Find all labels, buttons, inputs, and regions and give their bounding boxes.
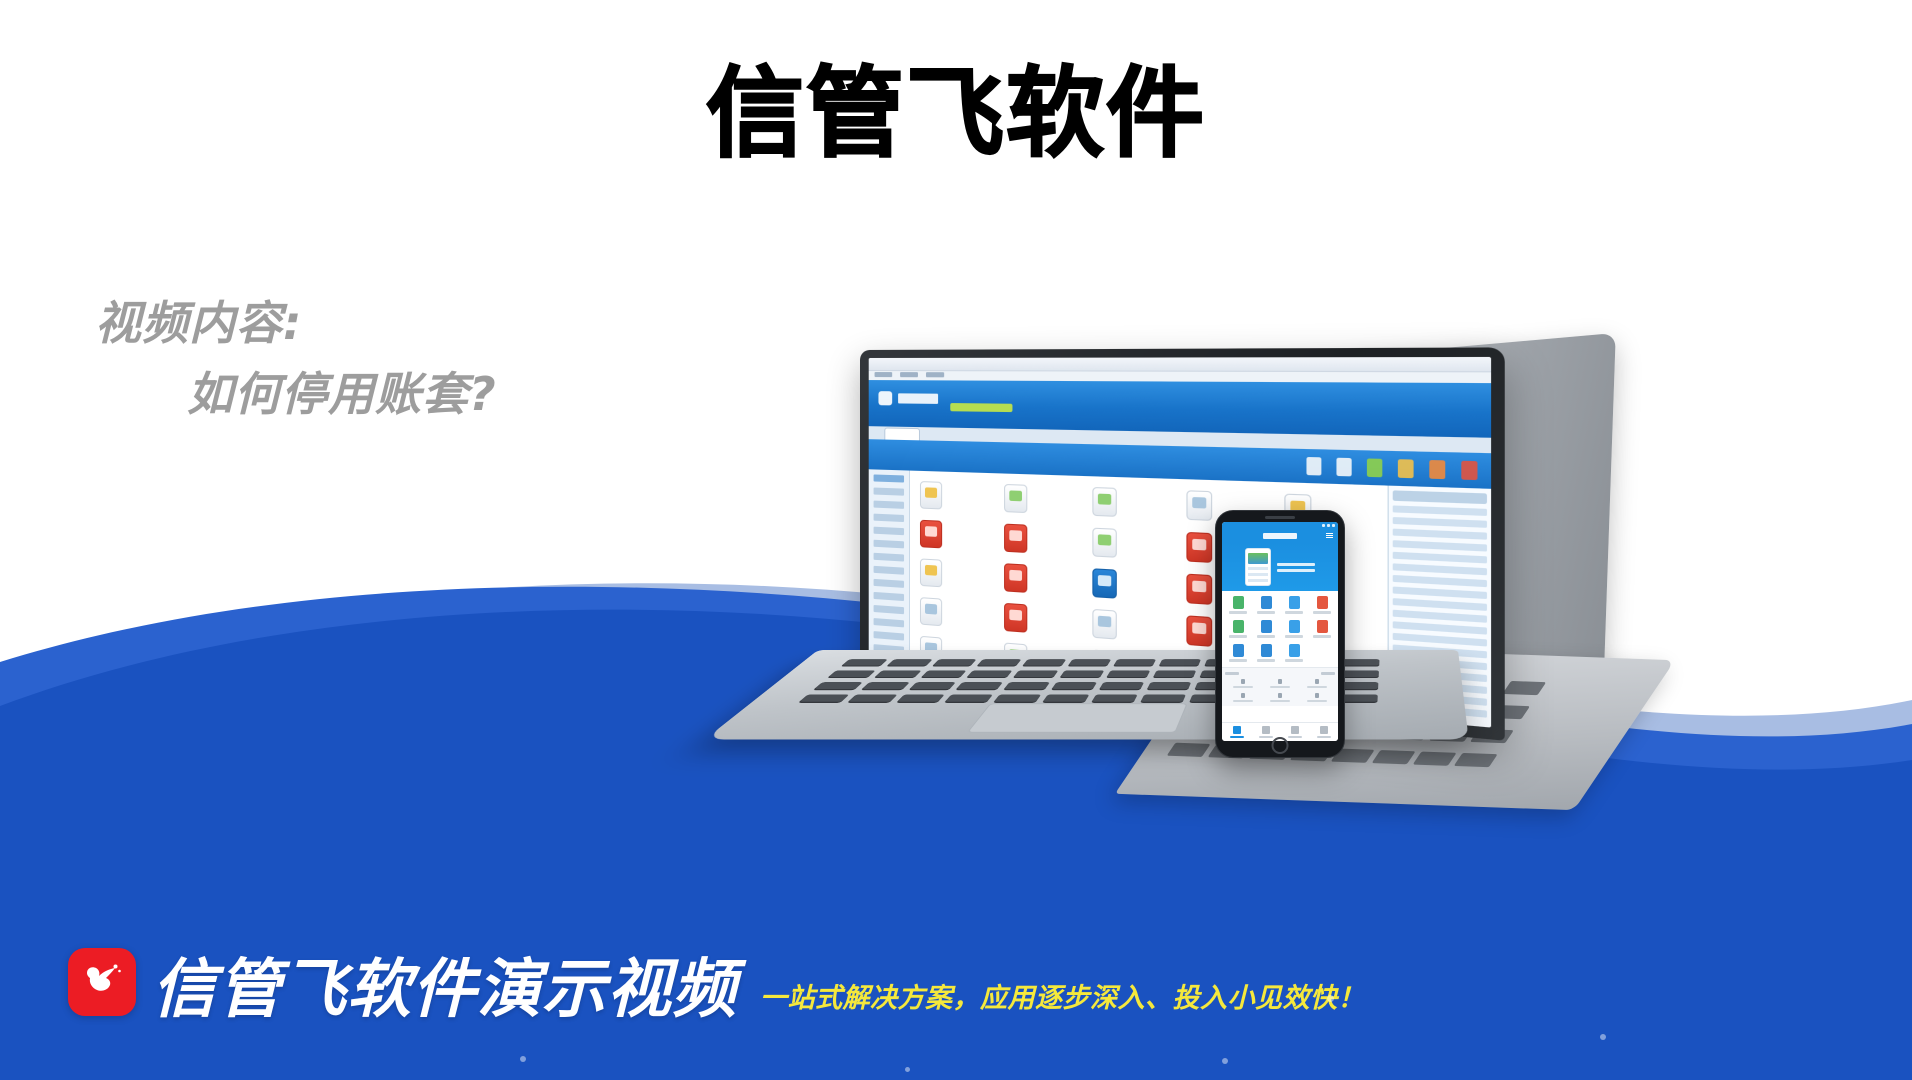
right-panel-row[interactable] (1393, 505, 1487, 516)
brand-logo (68, 948, 136, 1016)
decorative-dot (905, 1067, 910, 1072)
phone-module[interactable] (1253, 620, 1279, 638)
sidebar-item[interactable] (874, 605, 904, 614)
sidebar-item[interactable] (874, 553, 904, 562)
phone-module[interactable] (1253, 596, 1279, 614)
sidebar-item[interactable] (874, 618, 904, 627)
phone-app-title (1263, 533, 1297, 539)
toolbar-icon-6[interactable] (1461, 461, 1477, 480)
stat-cell (1225, 693, 1260, 702)
sidebar-item[interactable] (874, 540, 904, 549)
toolbar-icon-4[interactable] (1398, 459, 1414, 478)
page-title: 信管飞软件 (0, 62, 1912, 168)
stats-filter[interactable] (1321, 672, 1335, 675)
erp-module-icon[interactable] (1004, 484, 1027, 513)
phone-module[interactable] (1281, 596, 1307, 614)
phone-module (1309, 644, 1335, 662)
toolbar-icon-5[interactable] (1429, 460, 1445, 479)
erp-sidebar (869, 469, 910, 675)
hero-device-image (1245, 548, 1271, 586)
erp-module-icon[interactable] (1004, 603, 1027, 633)
right-panel-row[interactable] (1393, 610, 1487, 623)
decorative-dot (520, 1056, 526, 1062)
stat-cell (1225, 679, 1260, 688)
erp-module-icon[interactable] (920, 597, 942, 626)
erp-module-icon[interactable] (1093, 609, 1117, 640)
brand-tagline: 一站式解决方案，应用逐步深入、投入小见效快！ (760, 985, 1365, 1012)
right-panel-row[interactable] (1393, 633, 1487, 647)
sidebar-item[interactable] (874, 592, 904, 601)
right-panel-tab[interactable] (1393, 490, 1487, 504)
phone-status-bar (1222, 522, 1338, 529)
erp-titlebar (869, 357, 1491, 372)
stats-header (1225, 672, 1335, 675)
decorative-dot (1600, 1034, 1606, 1040)
phone-earpiece (1265, 516, 1295, 519)
decorative-dot (1327, 995, 1334, 1002)
laptop-base (705, 650, 1469, 740)
video-content-label: 视频内容: (95, 296, 302, 350)
phone-app-header (1222, 529, 1338, 543)
right-panel-row[interactable] (1393, 575, 1487, 587)
nav-tab-profile[interactable] (1309, 723, 1338, 741)
right-panel-row[interactable] (1393, 529, 1487, 540)
toolbar-icon-3[interactable] (1367, 458, 1382, 477)
erp-module-icon[interactable] (1093, 487, 1117, 517)
erp-brand-text (898, 393, 938, 404)
phone-module[interactable] (1253, 644, 1279, 662)
phone-home-button[interactable] (1272, 737, 1289, 754)
nav-tab-home[interactable] (1222, 723, 1251, 741)
sidebar-item[interactable] (874, 579, 904, 588)
erp-module-icon[interactable] (1186, 615, 1212, 647)
menu-item[interactable] (926, 372, 944, 377)
phone-module-grid (1222, 591, 1338, 667)
erp-banner-tag (950, 403, 1012, 412)
presentation-slide: 信管飞软件 视频内容: 如何停用账套? (0, 0, 1912, 1080)
right-panel-row[interactable] (1393, 517, 1487, 528)
right-panel-row[interactable] (1393, 563, 1487, 575)
right-panel-row[interactable] (1393, 598, 1487, 611)
sidebar-item[interactable] (874, 566, 904, 575)
stat-cell (1262, 679, 1297, 688)
erp-logo-icon (878, 391, 892, 405)
phone-hero-banner (1222, 543, 1338, 591)
video-content-block: 视频内容: 如何停用账套? (95, 288, 497, 431)
sidebar-item[interactable] (874, 501, 904, 509)
erp-module-icon[interactable] (1186, 574, 1212, 605)
phone-module[interactable] (1225, 596, 1251, 614)
right-panel-row[interactable] (1393, 540, 1487, 551)
device-illustration (860, 360, 1912, 880)
stats-title (1225, 672, 1239, 675)
erp-module-icon[interactable] (1093, 528, 1117, 558)
phone-module[interactable] (1281, 620, 1307, 638)
hamburger-icon[interactable] (1326, 533, 1333, 539)
sidebar-item[interactable] (874, 474, 904, 482)
phone-stats-panel (1222, 667, 1338, 706)
right-panel-row[interactable] (1393, 587, 1487, 600)
phone-module[interactable] (1225, 620, 1251, 638)
phone-module[interactable] (1281, 644, 1307, 662)
stat-cell (1262, 693, 1297, 702)
stat-cell (1300, 679, 1335, 688)
phone-screen (1222, 522, 1338, 741)
bird-logo-icon (79, 959, 125, 1005)
sidebar-item[interactable] (874, 487, 904, 495)
erp-module-icon[interactable] (920, 520, 942, 549)
toolbar-icon-2[interactable] (1336, 458, 1351, 477)
wifi-icon (1327, 524, 1330, 527)
menu-item[interactable] (875, 372, 893, 377)
erp-module-icon[interactable] (1004, 524, 1027, 553)
laptop-trackpad (967, 704, 1188, 733)
stat-cell (1300, 693, 1335, 702)
brand-name: 信管飞软件演示视频 (152, 958, 737, 1022)
sidebar-item[interactable] (874, 631, 904, 641)
erp-module-icon[interactable] (1186, 532, 1212, 563)
right-panel-row[interactable] (1393, 552, 1487, 564)
battery-icon (1332, 524, 1335, 527)
phone-module[interactable] (1309, 620, 1335, 638)
erp-module-icon[interactable] (1093, 568, 1117, 598)
footer-bar: 信管飞软件演示视频 一站式解决方案，应用逐步深入、投入小见效快！ (0, 915, 1912, 1080)
phone-module[interactable] (1309, 596, 1335, 614)
erp-module-icon[interactable] (1186, 490, 1212, 521)
erp-module-icon[interactable] (920, 558, 942, 587)
signal-icon (1322, 524, 1325, 527)
toolbar-icon-1[interactable] (1306, 457, 1321, 476)
stats-cells (1225, 679, 1335, 702)
menu-item[interactable] (900, 372, 918, 377)
tab-workspace[interactable] (884, 427, 920, 440)
sidebar-item[interactable] (874, 514, 904, 522)
smartphone (1215, 510, 1345, 758)
erp-module-icon[interactable] (920, 481, 942, 509)
decorative-dot (1222, 1058, 1228, 1064)
hero-text-lines (1277, 563, 1315, 572)
video-content-item: 如何停用账套? (95, 359, 497, 430)
phone-module[interactable] (1225, 644, 1251, 662)
erp-module-icon[interactable] (1004, 563, 1027, 593)
sidebar-item[interactable] (874, 527, 904, 536)
right-panel-row[interactable] (1393, 621, 1487, 634)
